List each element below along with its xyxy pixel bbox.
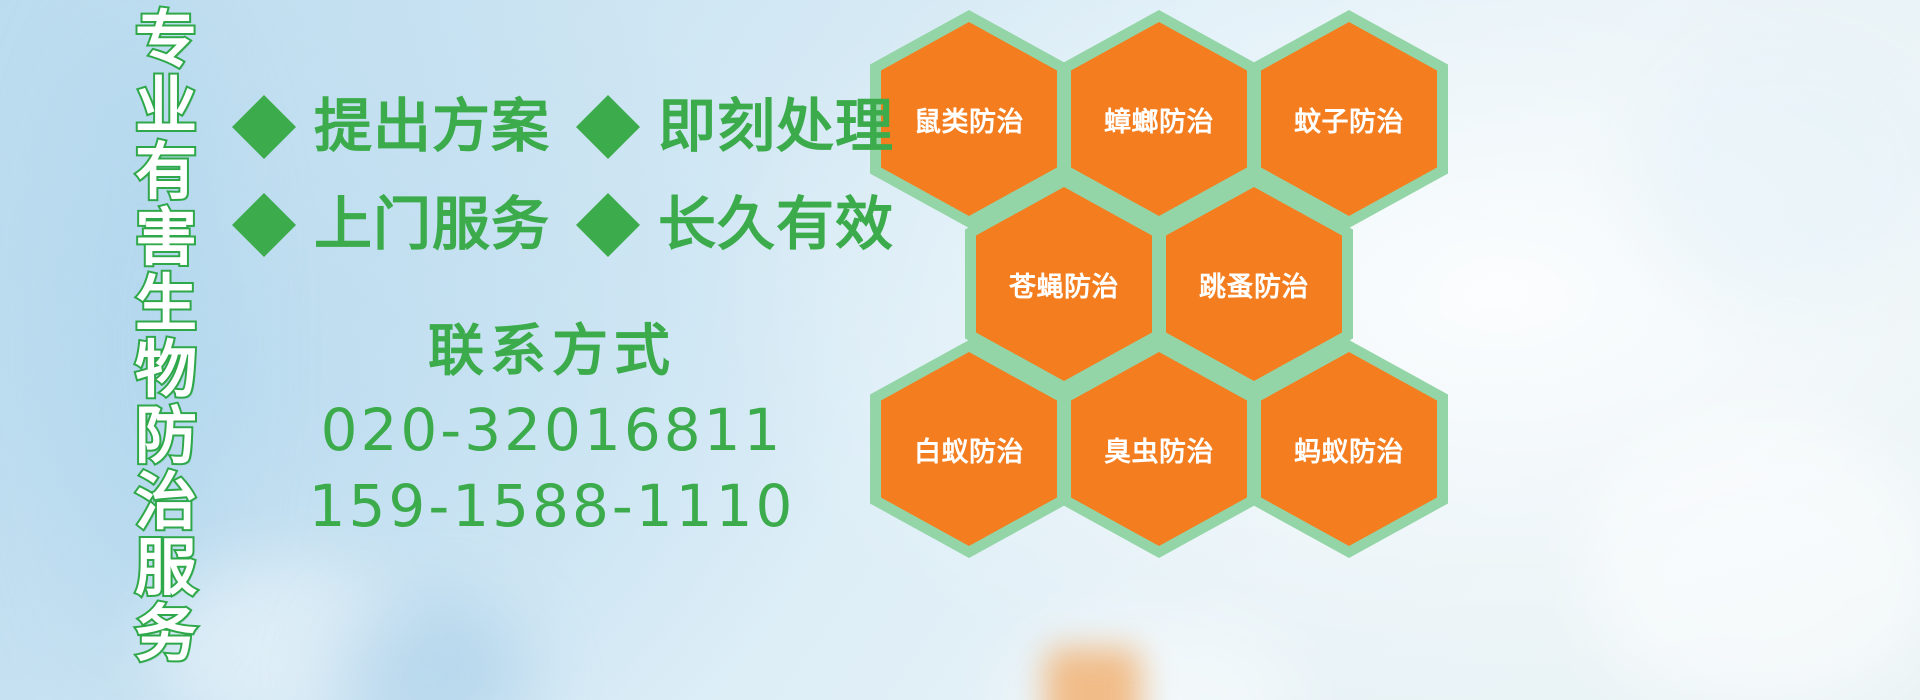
contact-phone-landline[interactable]: 020-32016811 xyxy=(232,392,872,468)
feature-label: 即刻处理 xyxy=(658,98,894,156)
vertical-headline-char: 防 xyxy=(135,404,197,470)
contact-title: 联系方式 xyxy=(232,318,872,384)
vertical-headline-char: 生 xyxy=(135,272,197,338)
feature-label: 长久有效 xyxy=(658,196,894,254)
service-hex-label: 蚊子防治 xyxy=(1294,100,1404,139)
service-hex-label: 蚂蚁防治 xyxy=(1294,430,1404,469)
vertical-headline-char: 业 xyxy=(135,74,197,140)
service-hex-fill: 蚂蚁防治 xyxy=(1261,352,1437,546)
background-blur-top-right xyxy=(1640,40,1920,300)
feature-item-onsite-service: 上门服务 xyxy=(232,193,550,257)
background-blur-bottom-left-2 xyxy=(330,600,530,700)
service-hex-fill: 白蚁防治 xyxy=(881,352,1057,546)
contact-block: 联系方式 020-32016811 159-1588-1110 xyxy=(232,318,872,544)
feature-row: 提出方案 即刻处理 xyxy=(232,78,872,176)
service-hex-label: 臭虫防治 xyxy=(1104,430,1214,469)
vertical-headline-char: 务 xyxy=(135,602,197,668)
service-hex-fill: 苍蝇防治 xyxy=(976,187,1152,381)
diamond-bullet-icon xyxy=(576,63,640,127)
service-hex-label: 跳蚤防治 xyxy=(1199,265,1309,304)
feature-list: 提出方案 即刻处理 上门服务 长久有效 xyxy=(232,78,872,274)
diamond-bullet-icon xyxy=(576,161,640,225)
background-blur-bottom-right xyxy=(1580,420,1920,700)
service-hex-label: 蟑螂防治 xyxy=(1104,100,1214,139)
vertical-headline: 专 业 有 害 生 物 防 治 服 务 xyxy=(108,8,224,698)
vertical-headline-char: 专 xyxy=(135,8,197,74)
feature-label: 提出方案 xyxy=(314,98,550,156)
vertical-headline-char: 有 xyxy=(135,140,197,206)
service-hex-fill: 蟑螂防治 xyxy=(1071,22,1247,216)
diamond-bullet-icon xyxy=(232,161,296,225)
feature-row: 上门服务 长久有效 xyxy=(232,176,872,274)
pest-control-service-banner: 专 业 有 害 生 物 防 治 服 务 提出方案 即刻处理 上门服务 xyxy=(0,0,1920,700)
vertical-headline-char: 治 xyxy=(135,470,197,536)
service-hex-fill: 跳蚤防治 xyxy=(1166,187,1342,381)
vertical-headline-char: 物 xyxy=(135,338,197,404)
feature-item-long-lasting: 长久有效 xyxy=(576,193,894,257)
feature-item-propose-plan: 提出方案 xyxy=(232,95,550,159)
service-hex-fill: 蚊子防治 xyxy=(1261,22,1437,216)
service-hex-label: 白蚁防治 xyxy=(914,430,1024,469)
service-hexagon-grid: 鼠类防治 蟑螂防治 蚊子防治 苍蝇防治 跳蚤防治 白蚁防 xyxy=(860,0,1460,700)
service-hex-fill: 臭虫防治 xyxy=(1071,352,1247,546)
service-hex-label: 苍蝇防治 xyxy=(1009,265,1119,304)
vertical-headline-char: 害 xyxy=(135,206,197,272)
service-hex-label: 鼠类防治 xyxy=(914,100,1024,139)
vertical-headline-char: 服 xyxy=(135,536,197,602)
feature-label: 上门服务 xyxy=(314,196,550,254)
service-hex-fill: 鼠类防治 xyxy=(881,22,1057,216)
diamond-bullet-icon xyxy=(232,63,296,127)
feature-item-immediate-handling: 即刻处理 xyxy=(576,95,894,159)
contact-phone-mobile[interactable]: 159-1588-1110 xyxy=(232,468,872,544)
